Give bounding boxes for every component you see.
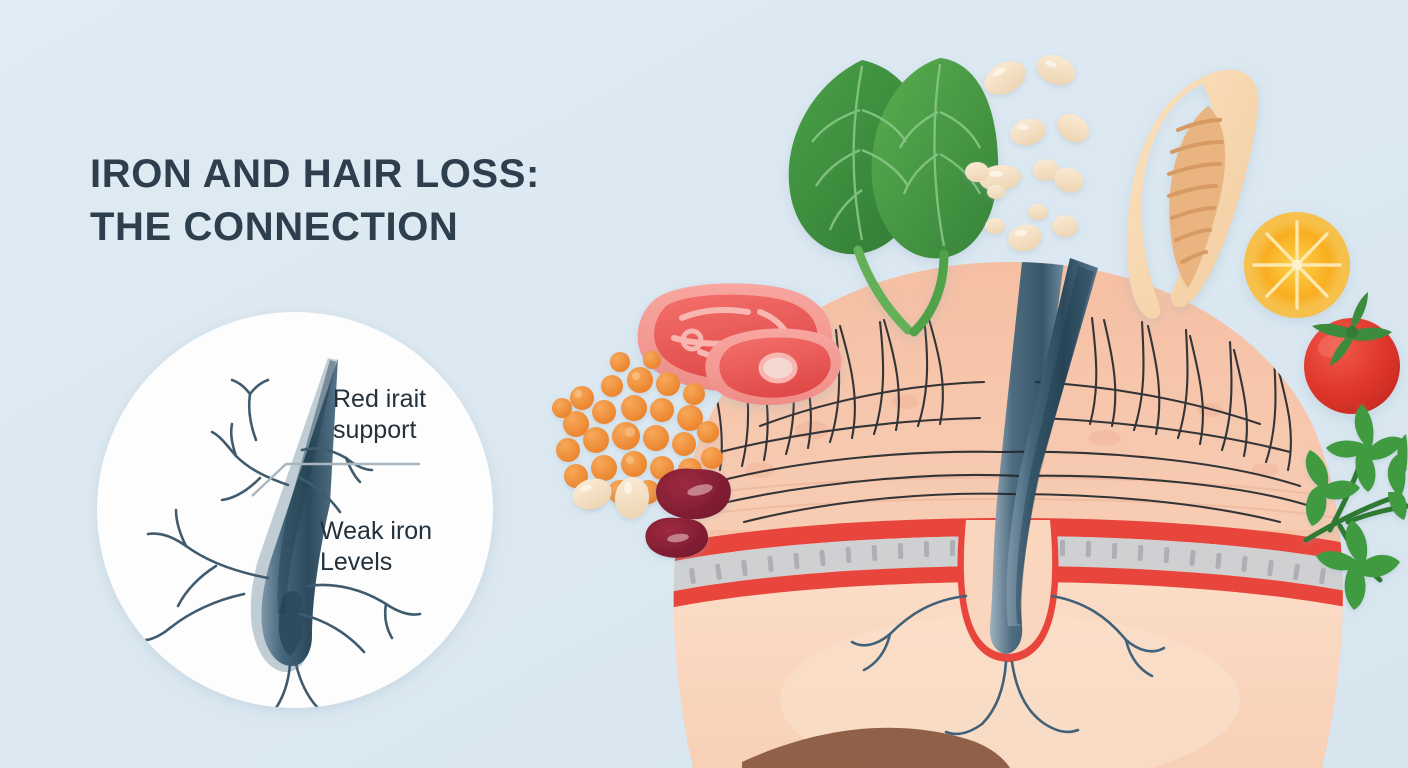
infographic-canvas: IRON AND HAIR LOSS: THE CONNECTION Red i… bbox=[0, 0, 1408, 768]
title-line-1: IRON AND HAIR LOSS: bbox=[90, 148, 710, 201]
inset-label-red-iron-support: Red irait support bbox=[333, 384, 426, 445]
illustration-artboard bbox=[0, 0, 1408, 768]
orange-core bbox=[1292, 260, 1302, 270]
inset-label-weak-iron-levels: Weak iron Levels bbox=[320, 516, 432, 577]
meat-bone bbox=[761, 355, 795, 381]
page-title: IRON AND HAIR LOSS: THE CONNECTION bbox=[90, 148, 710, 254]
food-orange-slice bbox=[1244, 212, 1350, 318]
title-line-2: THE CONNECTION bbox=[90, 201, 710, 254]
